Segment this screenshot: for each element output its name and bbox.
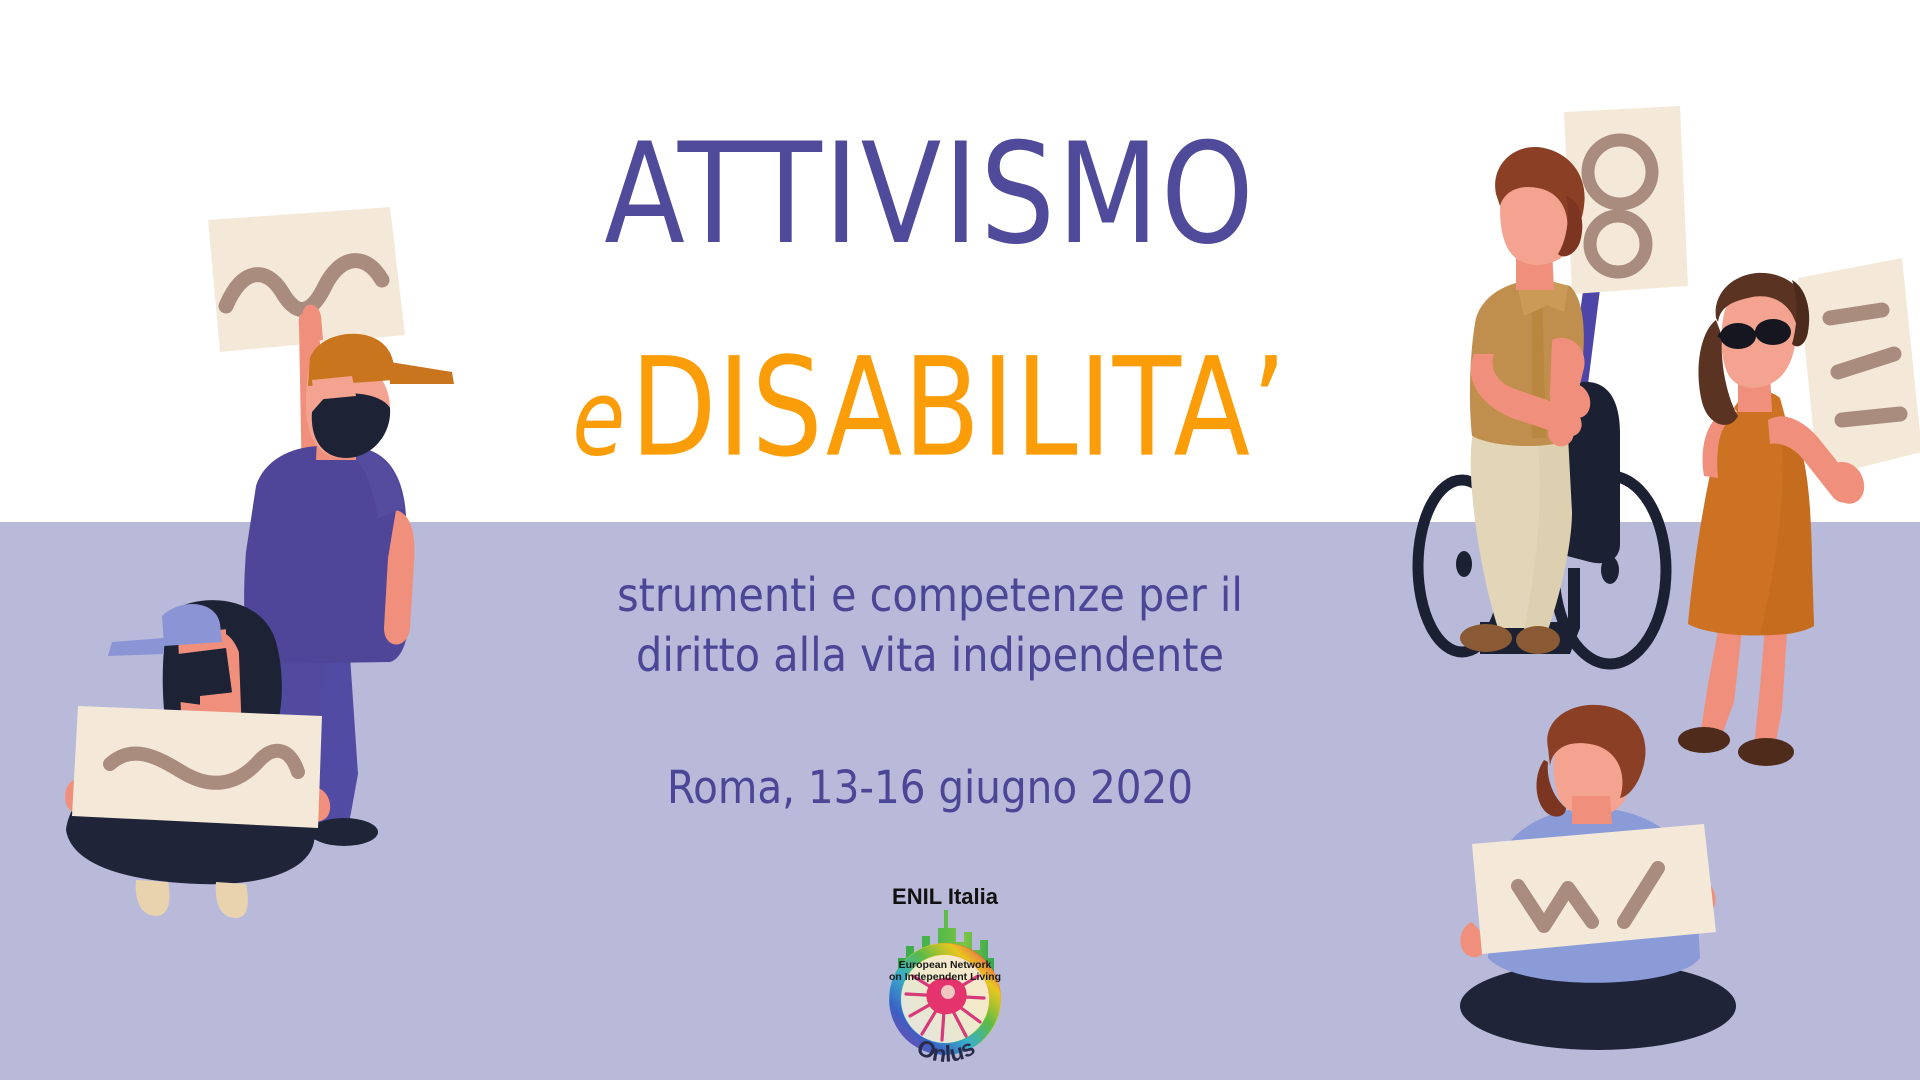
figure-seated-person-long-hair [50,580,370,930]
placard-w-squiggle [1472,824,1716,954]
logo-tagline-line2: on Independent Living [889,971,1001,983]
poster-canvas: ATTIVISMO eDISABILITA’ strumenti e compe… [0,0,1920,1080]
logo-emblem: European Network on Independent Living O… [870,884,1020,1074]
logo-tagline-line1: European Network [899,959,992,971]
placard-squiggle-2 [72,706,322,828]
figure-seated-person-blue-top [1440,700,1780,1050]
enil-italia-logo: ENIL Italia [870,884,1020,1074]
logo-wordmark: ENIL Italia [870,884,1020,910]
logo-tagline: European Network on Independent Living [889,959,1001,983]
